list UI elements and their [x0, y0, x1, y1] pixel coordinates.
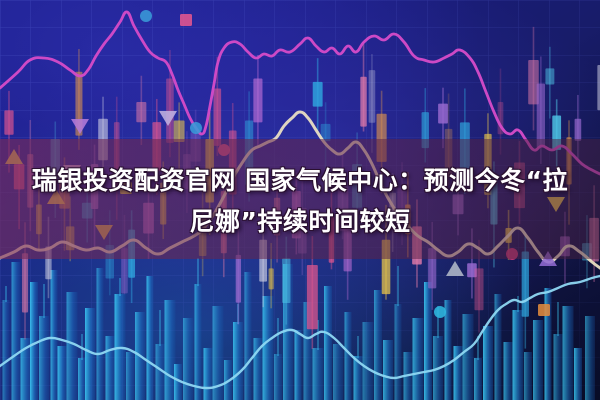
headline-tint-band — [0, 139, 600, 259]
market-banner-image: 瑞银投资配资官网 国家气候中心：预测今冬“拉 尼娜”持续时间较短 — [0, 0, 600, 400]
headline-band-layer — [0, 0, 600, 400]
